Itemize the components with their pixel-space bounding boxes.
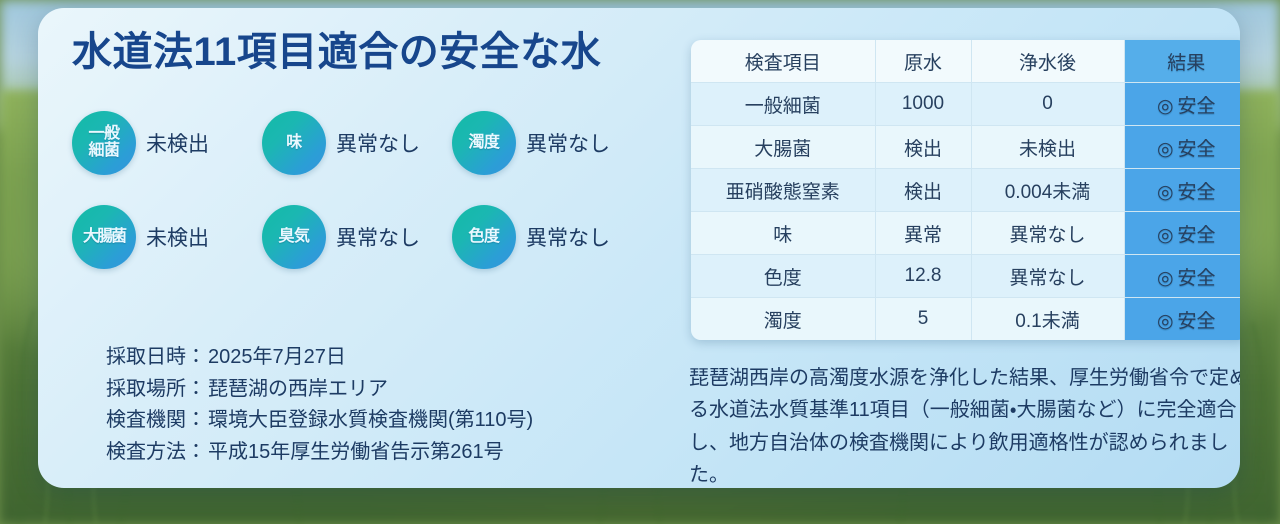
badge-label: 色度 xyxy=(468,229,499,246)
badge-circle-general-bacteria: 一般 細菌 xyxy=(72,111,136,175)
meta-value: 環境大臣登録水質検査機関(第110号) xyxy=(208,405,533,437)
cell-purified: 0.004未満 xyxy=(971,169,1124,212)
badge-item-general-bacteria: 一般 細菌 未検出 xyxy=(72,96,262,190)
badge-value: 異常なし xyxy=(336,222,420,252)
result-label: 安全 xyxy=(1178,139,1216,160)
meta-value: 琵琶湖の西岸エリア xyxy=(208,374,388,406)
left-column: 水道法11項目適合の安全な水 一般 細菌 未検出 味 異常なし 濁 xyxy=(68,30,648,284)
badge-circle-chromaticity: 色度 xyxy=(452,205,516,269)
meta-label: 採取日時： xyxy=(106,342,206,374)
cell-item: 亜硝酸態窒素 xyxy=(691,169,875,212)
cell-raw: 12.8 xyxy=(875,255,971,298)
cell-item: 一般細菌 xyxy=(691,83,875,126)
badge-grid: 一般 細菌 未検出 味 異常なし 濁度 異常なし xyxy=(72,96,652,284)
meta-row-sample-date: 採取日時： 2025年7月27日 xyxy=(106,342,666,374)
cell-result: ◎安全 xyxy=(1124,298,1240,341)
table-row: 濁度 5 0.1未満 ◎安全 xyxy=(691,298,1240,341)
badge-label: 味 xyxy=(286,135,302,152)
badge-label: 大腸菌 xyxy=(83,229,125,246)
meta-row-sample-location: 採取場所： 琵琶湖の西岸エリア xyxy=(106,374,666,406)
meta-label: 検査方法： xyxy=(106,437,206,469)
screenshot-stage: 水道法11項目適合の安全な水 一般 細菌 未検出 味 異常なし 濁 xyxy=(0,0,1280,524)
badge-value: 異常なし xyxy=(336,128,420,158)
result-mark-icon: ◎ xyxy=(1157,225,1174,246)
result-label: 安全 xyxy=(1178,268,1216,289)
cell-result: ◎安全 xyxy=(1124,255,1240,298)
meta-value: 平成15年厚生労働省告示第261号 xyxy=(208,437,504,469)
cell-item: 濁度 xyxy=(691,298,875,341)
badge-item-odor: 臭気 異常なし xyxy=(262,190,452,284)
meta-label: 検査機関： xyxy=(106,405,206,437)
badge-circle-turbidity: 濁度 xyxy=(452,111,516,175)
column-header-item: 検査項目 xyxy=(691,40,875,83)
badge-label: 一般 細菌 xyxy=(88,126,119,159)
badge-value: 未検出 xyxy=(146,222,209,252)
result-label: 安全 xyxy=(1178,225,1216,246)
badge-item-e-coli: 大腸菌 未検出 xyxy=(72,190,262,284)
cell-purified: 0 xyxy=(971,83,1124,126)
cell-raw: 検出 xyxy=(875,126,971,169)
table-row: 味 異常 異常なし ◎安全 xyxy=(691,212,1240,255)
result-mark-icon: ◎ xyxy=(1157,182,1174,203)
badge-item-turbidity: 濁度 異常なし xyxy=(452,96,642,190)
cell-purified: 未検出 xyxy=(971,126,1124,169)
badge-value: 異常なし xyxy=(526,222,610,252)
result-label: 安全 xyxy=(1178,96,1216,117)
table-row: 一般細菌 1000 0 ◎安全 xyxy=(691,83,1240,126)
cell-raw: 検出 xyxy=(875,169,971,212)
badge-label: 臭気 xyxy=(278,229,309,246)
result-mark-icon: ◎ xyxy=(1157,96,1174,117)
cell-raw: 1000 xyxy=(875,83,971,126)
cell-raw: 異常 xyxy=(875,212,971,255)
cell-result: ◎安全 xyxy=(1124,212,1240,255)
column-header-result: 結果 xyxy=(1124,40,1240,83)
badge-label: 濁度 xyxy=(468,135,499,152)
cell-purified: 0.1未満 xyxy=(971,298,1124,341)
badge-circle-e-coli: 大腸菌 xyxy=(72,205,136,269)
cell-raw: 5 xyxy=(875,298,971,341)
cell-result: ◎安全 xyxy=(1124,169,1240,212)
table-row: 大腸菌 検出 未検出 ◎安全 xyxy=(691,126,1240,169)
sample-meta-list: 採取日時： 2025年7月27日 採取場所： 琵琶湖の西岸エリア 検査機関： 環… xyxy=(106,342,666,468)
cell-purified: 異常なし xyxy=(971,255,1124,298)
cell-item: 味 xyxy=(691,212,875,255)
meta-label: 採取場所： xyxy=(106,374,206,406)
table-row: 色度 12.8 異常なし ◎安全 xyxy=(691,255,1240,298)
table-header-row: 検査項目 原水 浄水後 結果 xyxy=(691,40,1240,83)
cell-item: 大腸菌 xyxy=(691,126,875,169)
cell-purified: 異常なし xyxy=(971,212,1124,255)
result-mark-icon: ◎ xyxy=(1157,139,1174,160)
table-row: 亜硝酸態窒素 検出 0.004未満 ◎安全 xyxy=(691,169,1240,212)
badge-item-chromaticity: 色度 異常なし xyxy=(452,190,642,284)
badge-circle-odor: 臭気 xyxy=(262,205,326,269)
badge-value: 異常なし xyxy=(526,128,610,158)
result-table-wrapper: 検査項目 原水 浄水後 結果 一般細菌 1000 0 ◎安全 大腸菌 xyxy=(691,40,1240,340)
cell-result: ◎安全 xyxy=(1124,126,1240,169)
cell-item: 色度 xyxy=(691,255,875,298)
water-quality-card: 水道法11項目適合の安全な水 一般 細菌 未検出 味 異常なし 濁 xyxy=(38,8,1240,488)
column-header-purified: 浄水後 xyxy=(971,40,1124,83)
meta-value: 2025年7月27日 xyxy=(208,342,346,374)
badge-item-taste: 味 異常なし xyxy=(262,96,452,190)
meta-row-inspection-agency: 検査機関： 環境大臣登録水質検査機関(第110号) xyxy=(106,405,666,437)
badge-circle-taste: 味 xyxy=(262,111,326,175)
meta-row-inspection-method: 検査方法： 平成15年厚生労働省告示第261号 xyxy=(106,437,666,469)
water-quality-table: 検査項目 原水 浄水後 結果 一般細菌 1000 0 ◎安全 大腸菌 xyxy=(691,40,1240,340)
result-label: 安全 xyxy=(1178,182,1216,203)
result-mark-icon: ◎ xyxy=(1157,268,1174,289)
result-mark-icon: ◎ xyxy=(1157,311,1174,332)
badge-value: 未検出 xyxy=(146,128,209,158)
page-title: 水道法11項目適合の安全な水 xyxy=(72,30,648,74)
result-label: 安全 xyxy=(1178,311,1216,332)
cell-result: ◎安全 xyxy=(1124,83,1240,126)
summary-description: 琵琶湖西岸の高濁度水源を浄化した結果、厚生労働省令で定める水道法水質基準11項目… xyxy=(689,362,1240,488)
column-header-raw: 原水 xyxy=(875,40,971,83)
